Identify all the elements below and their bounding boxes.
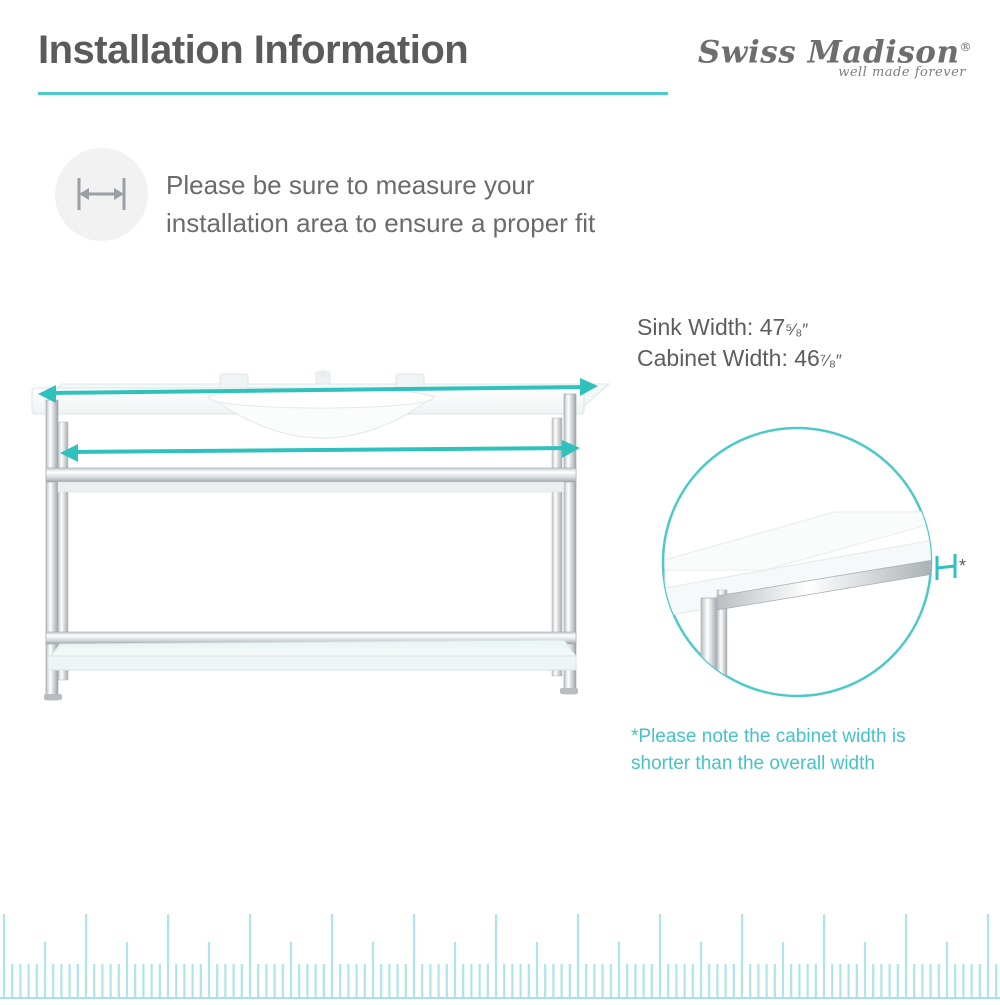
vanity-product-illustration: [24, 360, 624, 710]
ruler-decoration: [0, 850, 1000, 1000]
detail-circle-diagram: *: [645, 420, 975, 710]
horizontal-arrows-icon: [55, 148, 148, 241]
cabinet-width-line: Cabinet Width: 46⁷⁄₈″: [637, 344, 842, 375]
cabinet-width-fraction: ⁷⁄₈″: [820, 351, 842, 370]
sink-width-fraction: ⁵⁄₈″: [785, 320, 808, 339]
registered-trademark-icon: ®: [960, 40, 973, 54]
detail-zoom-callout: *: [645, 420, 975, 710]
measure-instruction-line1: Please be sure to measure your: [166, 166, 766, 204]
detail-asterisk-marker: *: [959, 556, 966, 576]
footnote-line2: shorter than the overall width: [631, 750, 1000, 777]
brand-name: Swiss Madison®: [672, 30, 972, 69]
footnote-line1: *Please note the cabinet width is: [631, 723, 1000, 750]
offset-marker: [937, 554, 955, 580]
measure-instruction-text: Please be sure to measure your installat…: [166, 166, 766, 242]
cabinet-width-dimension-arrow: [60, 440, 580, 462]
title-underline-divider: [38, 92, 668, 95]
vanity-diagram: [24, 360, 624, 710]
installation-information-page: Installation Information Swiss Madison® …: [0, 0, 1000, 1000]
page-title: Installation Information: [38, 28, 468, 73]
cabinet-width-label: Cabinet Width:: [637, 345, 788, 371]
sink-width-label: Sink Width:: [637, 314, 753, 340]
cabinet-width-value: 46: [794, 345, 820, 371]
measure-badge: [55, 148, 148, 241]
dimension-specs: Sink Width: 47⁵⁄₈″ Cabinet Width: 46⁷⁄₈″: [637, 313, 842, 375]
cabinet-width-footnote: *Please note the cabinet width is shorte…: [631, 723, 1000, 777]
measure-instruction-line2: installation area to ensure a proper fit: [166, 204, 766, 242]
brand-logo: Swiss Madison® well made forever: [672, 30, 972, 90]
ruler-ticks: [0, 850, 1000, 1000]
sink-width-value: 47: [760, 314, 786, 340]
sink-width-line: Sink Width: 47⁵⁄₈″: [637, 313, 842, 344]
